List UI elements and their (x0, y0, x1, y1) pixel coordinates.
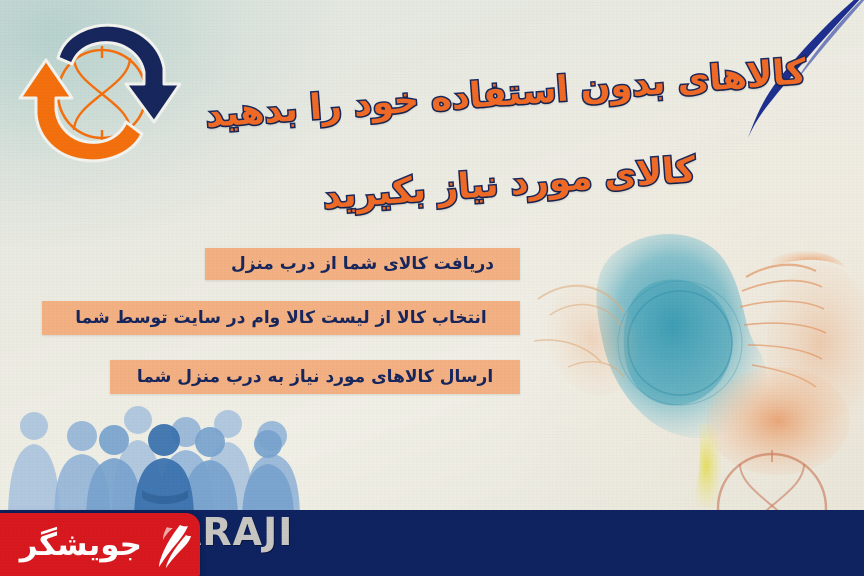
recycle-arrows-icon (14, 18, 189, 173)
poster-canvas: کالاهای بدون استفاده خود را بدهید کالای … (0, 0, 864, 576)
people-silhouettes-icon (0, 398, 396, 520)
step-banner-2: انتخاب کالا از لیست کالا وام در سایت توس… (42, 301, 520, 335)
step-banner-3: ارسال کالاهای مورد نیاز به درب منزل شما (110, 360, 520, 394)
step-banner-1: دریافت کالای شما از درب منزل (205, 248, 520, 280)
watercolor-splash-icon (520, 215, 864, 515)
brand-logo-box[interactable]: جویشگر (0, 513, 200, 576)
flame-swoosh-icon (146, 521, 194, 569)
headline-line-2: کالای مورد نیاز بکیرید (322, 150, 697, 217)
brand-name: جویشگر (20, 527, 142, 563)
